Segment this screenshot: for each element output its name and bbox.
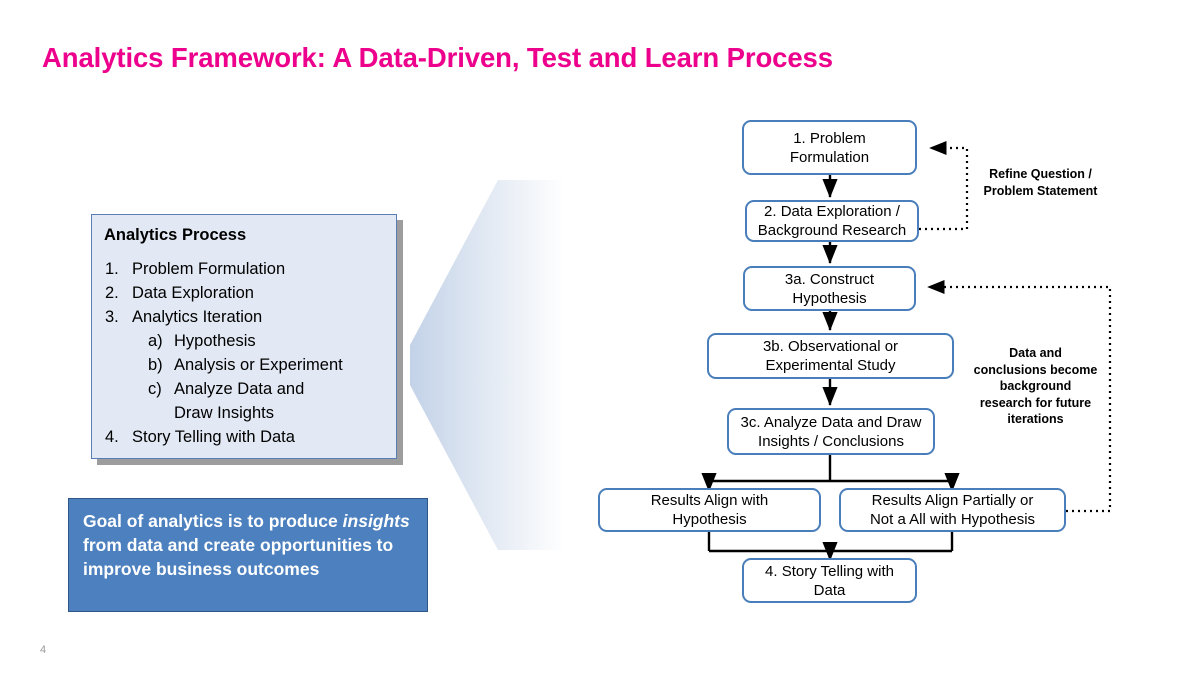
flow-box-line-2: Background Research xyxy=(758,221,906,240)
flow-box-line-2: Hypothesis xyxy=(785,289,874,308)
flow-box-analyze-data[interactable]: 3c. Analyze Data and Draw Insights / Con… xyxy=(727,408,935,455)
flow-note-line-1: Refine Question / xyxy=(968,166,1113,183)
flow-box-construct-hypothesis[interactable]: 3a. Construct Hypothesis xyxy=(743,266,916,311)
flow-box-line-1: 3b. Observational or xyxy=(763,337,898,356)
flowchart-connectors xyxy=(0,0,1200,675)
flow-box-line-1: 3c. Analyze Data and Draw xyxy=(741,413,922,432)
flow-note-line-3: background xyxy=(963,378,1108,395)
flow-box-line-1: 1. Problem xyxy=(790,129,869,148)
flow-box-line-2: Hypothesis xyxy=(651,510,769,529)
flow-box-observational-study[interactable]: 3b. Observational or Experimental Study xyxy=(707,333,954,379)
flow-note-refine-question: Refine Question / Problem Statement xyxy=(968,166,1113,199)
flow-box-line-2: Not a All with Hypothesis xyxy=(870,510,1035,529)
flow-note-line-5: iterations xyxy=(963,411,1108,428)
flow-box-line-1: 4. Story Telling with xyxy=(765,562,894,581)
flow-note-line-2: Problem Statement xyxy=(968,183,1113,200)
flow-box-line-1: 2. Data Exploration / xyxy=(758,202,906,221)
flow-box-results-partial[interactable]: Results Align Partially or Not a All wit… xyxy=(839,488,1066,532)
flow-box-line-2: Data xyxy=(765,581,894,600)
flow-note-data-conclusions: Data and conclusions become background r… xyxy=(963,345,1108,428)
flow-note-line-1: Data and xyxy=(963,345,1108,362)
flow-box-line-2: Insights / Conclusions xyxy=(741,432,922,451)
flow-note-line-2: conclusions become xyxy=(963,362,1108,379)
flow-box-results-align[interactable]: Results Align with Hypothesis xyxy=(598,488,821,532)
flow-box-line-1: Results Align Partially or xyxy=(870,491,1035,510)
flow-box-data-exploration[interactable]: 2. Data Exploration / Background Researc… xyxy=(745,200,919,242)
flow-box-line-1: Results Align with xyxy=(651,491,769,510)
flow-box-problem-formulation[interactable]: 1. Problem Formulation xyxy=(742,120,917,175)
flow-box-line-2: Experimental Study xyxy=(763,356,898,375)
flow-box-story-telling[interactable]: 4. Story Telling with Data xyxy=(742,558,917,603)
flow-note-line-4: research for future xyxy=(963,395,1108,412)
flow-box-line-1: 3a. Construct xyxy=(785,270,874,289)
flow-box-line-2: Formulation xyxy=(790,148,869,167)
